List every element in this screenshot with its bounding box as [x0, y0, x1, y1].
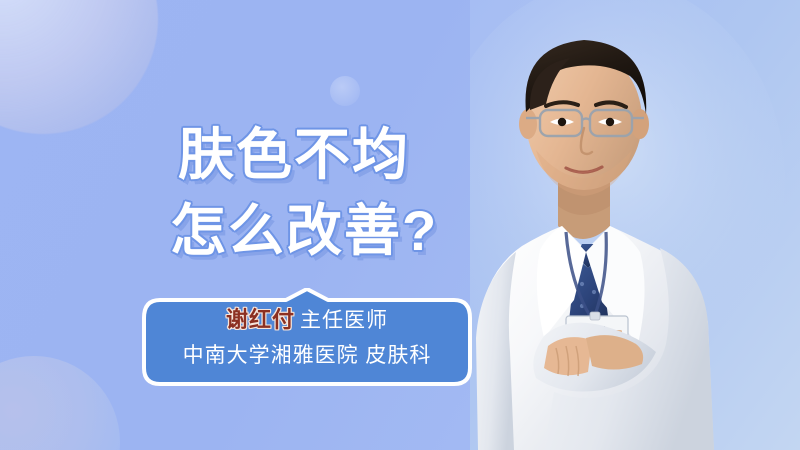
- badge-line-primary: 谢红付主任医师: [136, 304, 478, 337]
- doctor-affiliation: 中南大学湘雅医院 皮肤科: [136, 340, 478, 372]
- thumbnail-canvas: 肤色不均 怎么改善? 谢红付主任医师 中南大学湘雅医院 皮肤科: [0, 0, 800, 450]
- headline: 肤色不均 怎么改善?: [178, 122, 478, 264]
- badge-text-block: 谢红付主任医师 中南大学湘雅医院 皮肤科: [136, 304, 478, 372]
- doctor-portrait: [470, 0, 800, 450]
- headline-line-2: 怎么改善?: [170, 198, 478, 264]
- headline-line-1: 肤色不均: [178, 122, 478, 188]
- decor-circle-small-icon: [330, 76, 360, 106]
- speaker-badge: 谢红付主任医师 中南大学湘雅医院 皮肤科: [136, 288, 478, 388]
- doctor-name: 谢红付: [226, 307, 295, 332]
- doctor-role: 主任医师: [300, 309, 388, 332]
- decor-circle-top-left-icon: [0, 0, 158, 134]
- decor-circle-bottom-left-icon: [0, 356, 120, 450]
